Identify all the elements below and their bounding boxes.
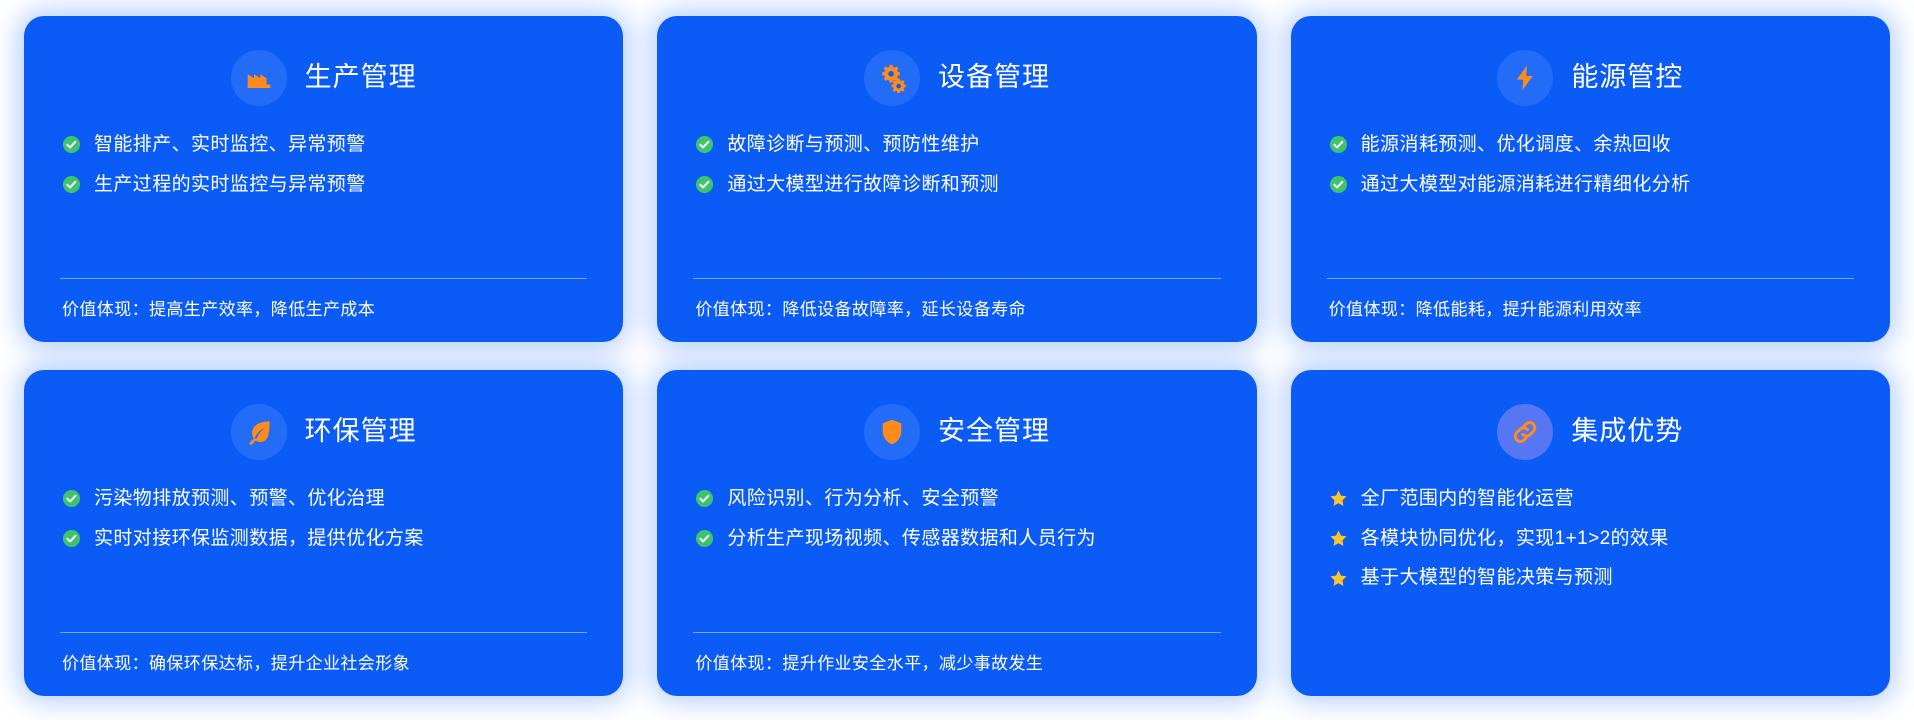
spacer	[58, 197, 589, 256]
feature-item: 实时对接环保监测数据，提供优化方案	[62, 526, 589, 552]
spacer	[1325, 591, 1856, 674]
value-statement: 价值体现：提高生产效率，降低生产成本	[58, 295, 589, 320]
feature-item: 通过大模型对能源消耗进行精细化分析	[1329, 172, 1856, 198]
card-environmental-management[interactable]: 环保管理污染物排放预测、预警、优化治理实时对接环保监测数据，提供优化方案价值体现…	[24, 370, 623, 696]
spacer	[1325, 197, 1856, 256]
feature-text: 基于大模型的智能决策与预测	[1361, 565, 1613, 591]
feature-item: 通过大模型进行故障诊断和预测	[695, 172, 1222, 198]
card-header: 环保管理	[58, 404, 589, 460]
value-statement: 价值体现：确保环保达标，提升企业社会形象	[58, 649, 589, 674]
feature-text: 全厂范围内的智能化运营	[1361, 486, 1574, 512]
feature-item: 能源消耗预测、优化调度、余热回收	[1329, 132, 1856, 158]
card-equipment-management[interactable]: 设备管理故障诊断与预测、预防性维护通过大模型进行故障诊断和预测价值体现：降低设备…	[657, 16, 1256, 342]
card-header: 集成优势	[1325, 404, 1856, 460]
card-divider	[693, 278, 1220, 279]
star-bullet-icon	[1329, 529, 1348, 548]
leaf-icon	[231, 404, 287, 460]
feature-list: 污染物排放预测、预警、优化治理实时对接环保监测数据，提供优化方案	[58, 486, 589, 551]
feature-text: 能源消耗预测、优化调度、余热回收	[1361, 132, 1671, 158]
feature-text: 生产过程的实时监控与异常预警	[94, 172, 366, 198]
feature-item: 智能排产、实时监控、异常预警	[62, 132, 589, 158]
check-bullet-icon	[695, 489, 714, 508]
feature-list: 智能排产、实时监控、异常预警生产过程的实时监控与异常预警	[58, 132, 589, 197]
check-bullet-icon	[1329, 175, 1348, 194]
feature-text: 通过大模型进行故障诊断和预测	[727, 172, 999, 198]
feature-text: 故障诊断与预测、预防性维护	[727, 132, 979, 158]
card-divider	[1327, 278, 1854, 279]
check-bullet-icon	[695, 135, 714, 154]
card-header: 设备管理	[691, 50, 1222, 106]
card-integration-advantage[interactable]: 集成优势全厂范围内的智能化运营各模块协同优化，实现1+1>2的效果基于大模型的智…	[1291, 370, 1890, 696]
feature-text: 通过大模型对能源消耗进行精细化分析	[1361, 172, 1691, 198]
card-safety-management[interactable]: 安全管理风险识别、行为分析、安全预警分析生产现场视频、传感器数据和人员行为价值体…	[657, 370, 1256, 696]
spacer	[691, 197, 1222, 256]
card-divider	[60, 632, 587, 633]
card-header: 能源管控	[1325, 50, 1856, 106]
card-title: 安全管理	[938, 417, 1050, 447]
star-bullet-icon	[1329, 569, 1348, 588]
feature-text: 风险识别、行为分析、安全预警	[727, 486, 999, 512]
check-bullet-icon	[695, 529, 714, 548]
star-bullet-icon	[1329, 489, 1348, 508]
feature-item: 风险识别、行为分析、安全预警	[695, 486, 1222, 512]
feature-text: 实时对接环保监测数据，提供优化方案	[94, 526, 424, 552]
feature-card-grid: 生产管理智能排产、实时监控、异常预警生产过程的实时监控与异常预警价值体现：提高生…	[0, 0, 1914, 720]
check-bullet-icon	[1329, 135, 1348, 154]
feature-text: 分析生产现场视频、传感器数据和人员行为	[727, 526, 1096, 552]
lightning-bolt-icon	[1497, 50, 1553, 106]
feature-item: 生产过程的实时监控与异常预警	[62, 172, 589, 198]
feature-list: 风险识别、行为分析、安全预警分析生产现场视频、传感器数据和人员行为	[691, 486, 1222, 551]
card-title: 环保管理	[305, 417, 417, 447]
value-statement: 价值体现：降低设备故障率，延长设备寿命	[691, 295, 1222, 320]
value-statement: 价值体现：提升作业安全水平，减少事故发生	[691, 649, 1222, 674]
card-energy-management[interactable]: 能源管控能源消耗预测、优化调度、余热回收通过大模型对能源消耗进行精细化分析价值体…	[1291, 16, 1890, 342]
card-title: 生产管理	[305, 63, 417, 93]
check-bullet-icon	[62, 489, 81, 508]
value-statement: 价值体现：降低能耗，提升能源利用效率	[1325, 295, 1856, 320]
feature-item: 故障诊断与预测、预防性维护	[695, 132, 1222, 158]
gears-icon	[864, 50, 920, 106]
shield-icon	[864, 404, 920, 460]
feature-item: 污染物排放预测、预警、优化治理	[62, 486, 589, 512]
card-title: 集成优势	[1571, 417, 1683, 447]
factory-icon	[231, 50, 287, 106]
card-production-management[interactable]: 生产管理智能排产、实时监控、异常预警生产过程的实时监控与异常预警价值体现：提高生…	[24, 16, 623, 342]
card-title: 能源管控	[1571, 63, 1683, 93]
feature-text: 污染物排放预测、预警、优化治理	[94, 486, 385, 512]
card-header: 安全管理	[691, 404, 1222, 460]
card-header: 生产管理	[58, 50, 589, 106]
feature-item: 全厂范围内的智能化运营	[1329, 486, 1856, 512]
feature-item: 各模块协同优化，实现1+1>2的效果	[1329, 526, 1856, 552]
check-bullet-icon	[695, 175, 714, 194]
card-title: 设备管理	[938, 63, 1050, 93]
spacer	[691, 551, 1222, 610]
feature-text: 智能排产、实时监控、异常预警	[94, 132, 366, 158]
check-bullet-icon	[62, 175, 81, 194]
link-chain-icon	[1497, 404, 1553, 460]
check-bullet-icon	[62, 529, 81, 548]
feature-text: 各模块协同优化，实现1+1>2的效果	[1361, 526, 1669, 552]
feature-item: 基于大模型的智能决策与预测	[1329, 565, 1856, 591]
feature-list: 故障诊断与预测、预防性维护通过大模型进行故障诊断和预测	[691, 132, 1222, 197]
card-divider	[693, 632, 1220, 633]
feature-item: 分析生产现场视频、传感器数据和人员行为	[695, 526, 1222, 552]
card-divider	[60, 278, 587, 279]
spacer	[58, 551, 589, 610]
feature-list: 全厂范围内的智能化运营各模块协同优化，实现1+1>2的效果基于大模型的智能决策与…	[1325, 486, 1856, 591]
check-bullet-icon	[62, 135, 81, 154]
feature-list: 能源消耗预测、优化调度、余热回收通过大模型对能源消耗进行精细化分析	[1325, 132, 1856, 197]
